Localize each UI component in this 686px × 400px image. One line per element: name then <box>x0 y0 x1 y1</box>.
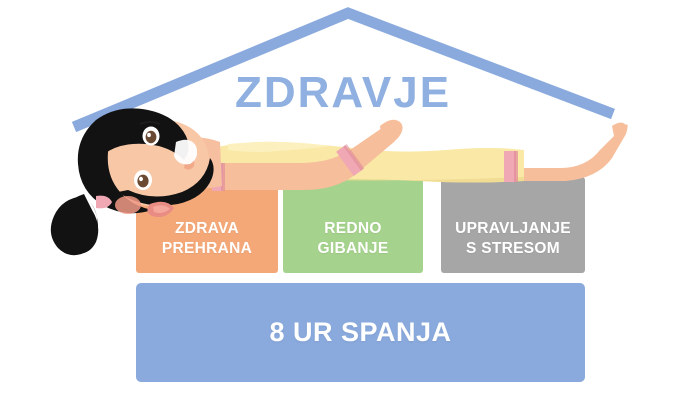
base-bar-label: 8 UR SPANJA <box>269 317 451 348</box>
pillar-regular-exercise[interactable]: REDNO GIBANJE <box>283 177 423 273</box>
pillar-label-stress-management: UPRAVLJANJE S STRESOM <box>455 219 571 259</box>
base-bar-sleep[interactable]: 8 UR SPANJA <box>136 283 585 382</box>
pillar-label-healthy-nutrition: ZDRAVA PREHRANA <box>162 219 252 259</box>
page-title: ZDRAVJE <box>0 68 686 118</box>
pillar-stress-management[interactable]: UPRAVLJANJE S STRESOM <box>441 177 585 273</box>
pillar-healthy-nutrition[interactable]: ZDRAVA PREHRANA <box>136 177 278 273</box>
pillar-label-regular-exercise: REDNO GIBANJE <box>317 219 388 259</box>
infographic-canvas: ZDRAVJE ZDRAVA PREHRANA REDNO GIBANJE UP… <box>0 0 686 400</box>
girl-legs <box>505 122 628 181</box>
